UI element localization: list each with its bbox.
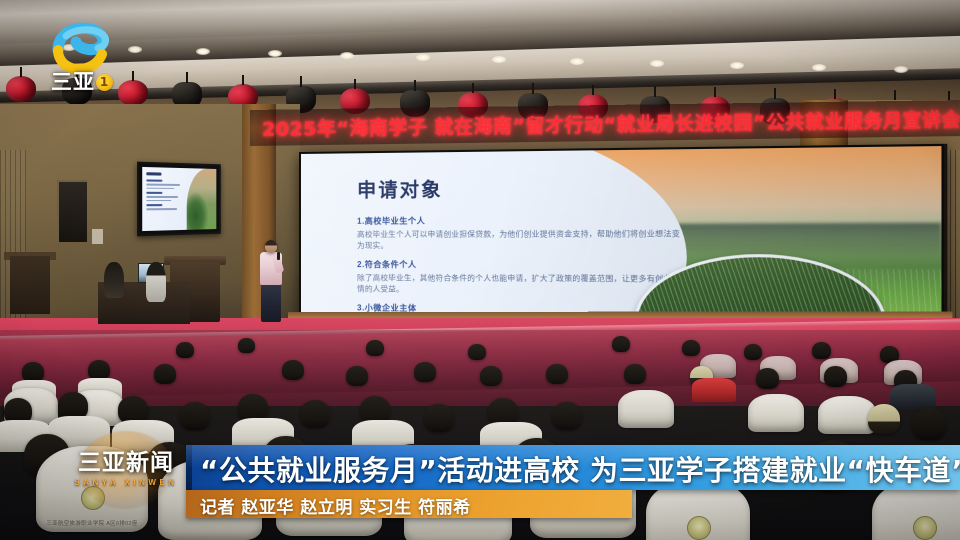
audience-head bbox=[300, 400, 330, 428]
wall-monitor-heading bbox=[146, 179, 162, 181]
channel-logo: 三亚1 bbox=[38, 20, 124, 96]
channel-name-text: 三亚 bbox=[51, 70, 95, 94]
audience-head bbox=[480, 366, 502, 386]
wall-monitor-slide bbox=[142, 167, 216, 231]
audience-head bbox=[346, 366, 368, 386]
audience-head bbox=[682, 340, 700, 356]
audience-head bbox=[282, 360, 304, 380]
lower-third: “公共就业服务月”活动进高校 为三亚学子搭建就业“快车道” 记者 赵亚华 赵立明… bbox=[186, 445, 960, 522]
wall-monitor-text-column bbox=[142, 167, 187, 231]
wall-control-panel bbox=[92, 229, 103, 244]
audience-head bbox=[414, 362, 436, 382]
audience-head bbox=[624, 364, 646, 384]
downlight-icon bbox=[128, 46, 142, 53]
downlight-icon bbox=[812, 64, 826, 71]
slide-section-heading: 1.高校毕业生个人 bbox=[357, 214, 684, 227]
seat bbox=[748, 394, 804, 432]
downlight-icon bbox=[492, 56, 506, 63]
audience-head bbox=[552, 402, 582, 430]
audience-head bbox=[238, 338, 255, 353]
audience-head bbox=[424, 404, 454, 432]
audience-head bbox=[366, 340, 384, 356]
presenter-head bbox=[265, 240, 277, 253]
seat-foreground: 三亚航空旅游职业学院 A区6排02座 bbox=[36, 446, 148, 532]
wall-monitor-heading bbox=[146, 204, 162, 206]
audience-head bbox=[468, 344, 486, 360]
wall-monitor bbox=[137, 162, 221, 237]
technician-seated bbox=[104, 262, 124, 298]
headline-bar: “公共就业服务月”活动进高校 为三亚学子搭建就业“快车道” bbox=[186, 445, 960, 490]
technician-seated bbox=[146, 262, 166, 302]
channel-number-badge: 1 bbox=[96, 74, 113, 91]
slide-title: 申请对象 bbox=[357, 172, 684, 202]
downlight-icon bbox=[894, 66, 908, 73]
audience-head-with-cap bbox=[868, 404, 900, 434]
seat-label: 三亚航空旅游职业学院 A区6排02座 bbox=[36, 519, 148, 527]
wall-monitor-heading bbox=[146, 192, 162, 194]
venue-banner-text: 2025年“海南学子 就在海南”留才行动“就业局长进校园”公共就业服务月宣讲会 bbox=[262, 105, 960, 142]
audience-head bbox=[756, 368, 779, 389]
headline-text: “公共就业服务月”活动进高校 为三亚学子搭建就业“快车道” bbox=[200, 449, 960, 489]
red-lantern bbox=[6, 76, 36, 102]
downlight-icon bbox=[570, 58, 584, 65]
downlight-icon bbox=[196, 48, 210, 55]
downlight-icon bbox=[340, 52, 354, 59]
downlight-icon bbox=[730, 62, 744, 69]
audience-head bbox=[812, 342, 831, 359]
broadcast-frame: 申请对象 1.高校毕业生个人 高校毕业生个人可以申请创业担保贷款，为他们创业提供… bbox=[0, 0, 960, 540]
slide-section-heading: 2.符合条件个人 bbox=[357, 259, 684, 271]
audience-head bbox=[176, 342, 194, 358]
handheld-microphone-icon bbox=[277, 252, 280, 260]
side-doorway bbox=[57, 180, 87, 242]
audience-shoulders bbox=[890, 384, 936, 410]
audience-head bbox=[824, 366, 847, 387]
audience-head bbox=[912, 408, 946, 440]
credits-text: 记者 赵亚华 赵立明 实习生 符丽希 bbox=[200, 493, 471, 518]
audience-shoulders-red-shirt bbox=[692, 378, 736, 402]
lectern bbox=[10, 256, 50, 314]
seat bbox=[618, 390, 674, 428]
presenter-on-stage bbox=[258, 240, 284, 324]
wall-monitor-photo bbox=[187, 168, 216, 230]
downlight-icon bbox=[416, 54, 430, 61]
downlight-icon bbox=[650, 60, 664, 67]
presenter-legs bbox=[261, 284, 281, 322]
audience-head bbox=[154, 364, 176, 384]
audience-head bbox=[546, 364, 568, 384]
wall-monitor-title-bar bbox=[146, 172, 161, 175]
audience-head bbox=[22, 362, 44, 382]
audience-head bbox=[88, 360, 110, 380]
slide-section-body: 除了高校毕业生，其他符合条件的个人也能申请，扩大了政策的覆盖范围，让更多有创业热… bbox=[357, 273, 684, 297]
credits-bar: 记者 赵亚华 赵立明 实习生 符丽希 bbox=[186, 490, 632, 518]
audience-head bbox=[180, 402, 210, 430]
audience-head bbox=[612, 336, 630, 352]
channel-wordmark: 三亚1 bbox=[42, 66, 122, 96]
slide-section-body: 高校毕业生个人可以申请创业担保贷款，为他们创业提供资金支持，帮助他们将创业想法变… bbox=[357, 229, 684, 252]
downlight-icon bbox=[268, 50, 282, 57]
audience-head bbox=[744, 344, 762, 360]
school-crest-icon bbox=[81, 486, 105, 510]
